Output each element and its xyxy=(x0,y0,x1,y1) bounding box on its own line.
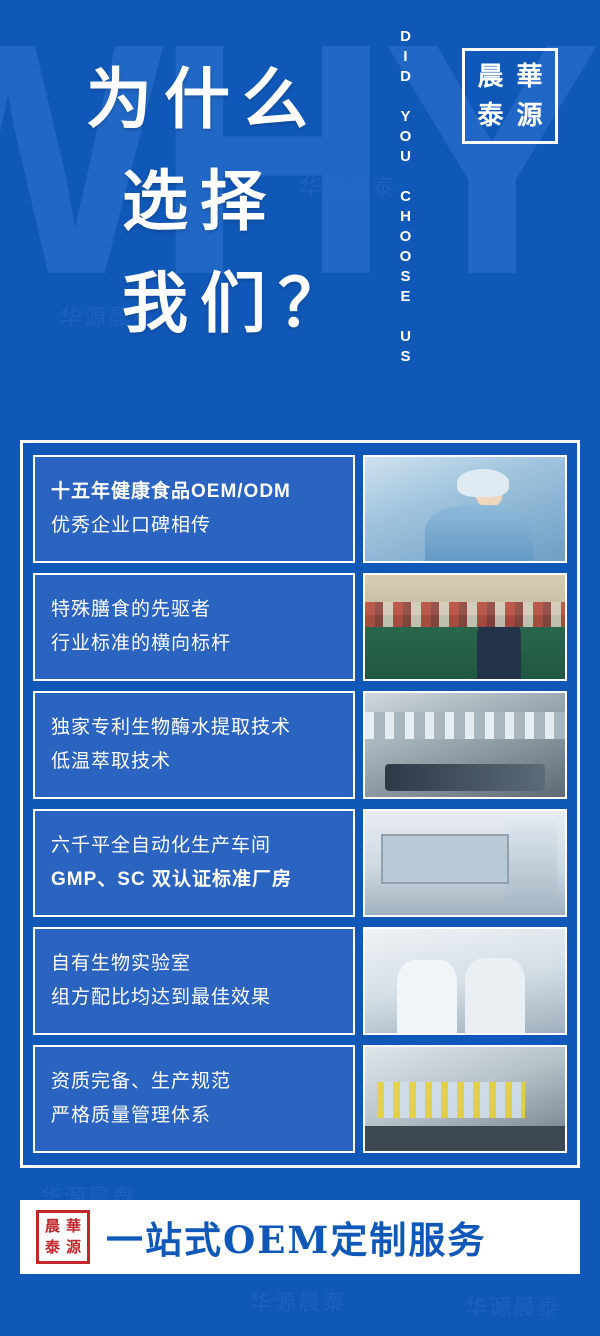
feature-line: 特殊膳食的先驱者 xyxy=(51,597,337,623)
page-title-line-3: 我们？ xyxy=(122,252,356,354)
feature-line: 十五年健康食品OEM/ODM xyxy=(51,479,337,505)
seal-char-2: 源 xyxy=(66,1240,81,1255)
feature-text-box: 资质完备、生产规范 严格质量管理体系 xyxy=(33,1045,355,1153)
blister-packing-photo xyxy=(363,1045,567,1153)
feature-line: 行业标准的横向标杆 xyxy=(51,631,337,657)
seal-char-3: 泰 xyxy=(477,103,503,129)
feature-line: 资质完备、生产规范 xyxy=(51,1069,337,1095)
vertical-english-caption: DID YOU CHOOSE US xyxy=(396,28,422,398)
feature-line: GMP、SC 双认证标准厂房 xyxy=(51,867,337,893)
feature-line: 严格质量管理体系 xyxy=(51,1103,337,1129)
brand-logo-seal: 晨 華 泰 源 xyxy=(462,48,558,144)
feature-text-box: 特殊膳食的先驱者 行业标准的横向标杆 xyxy=(33,573,355,681)
seal-char-1: 晨 xyxy=(477,64,503,90)
clean-workshop-photo xyxy=(363,809,567,917)
footer-banner: 晨 華 泰 源 一站式OEM定制服务 xyxy=(20,1200,580,1274)
feature-line: 低温萃取技术 xyxy=(51,749,337,775)
feature-row: 独家专利生物酶水提取技术 低温萃取技术 xyxy=(33,691,567,799)
page-title-line-1: 为什么 xyxy=(86,48,356,150)
feature-text-box: 自有生物实验室 组方配比均达到最佳效果 xyxy=(33,927,355,1035)
feature-row: 特殊膳食的先驱者 行业标准的横向标杆 xyxy=(33,573,567,681)
seal-char-3: 泰 xyxy=(45,1240,60,1255)
feature-line: 优秀企业口碑相传 xyxy=(51,513,337,539)
feature-row: 六千平全自动化生产车间 GMP、SC 双认证标准厂房 xyxy=(33,809,567,917)
feature-row: 自有生物实验室 组方配比均达到最佳效果 xyxy=(33,927,567,1035)
feature-row: 十五年健康食品OEM/ODM 优秀企业口碑相传 xyxy=(33,455,567,563)
filling-line-photo xyxy=(363,691,567,799)
features-panel: 十五年健康食品OEM/ODM 优秀企业口碑相传 特殊膳食的先驱者 行业标准的横向… xyxy=(20,440,580,1168)
seal-char-2: 源 xyxy=(516,103,542,129)
page-title-line-2: 选择 xyxy=(122,150,356,252)
feature-line: 组方配比均达到最佳效果 xyxy=(51,985,337,1011)
feature-line: 自有生物实验室 xyxy=(51,951,337,977)
footer-slogan: 一站式OEM定制服务 xyxy=(106,1210,486,1264)
seal-char-0: 華 xyxy=(66,1219,81,1234)
laboratory-staff-photo xyxy=(363,927,567,1035)
page-title: 为什么 选择 我们？ xyxy=(86,48,356,354)
feature-text-box: 六千平全自动化生产车间 GMP、SC 双认证标准厂房 xyxy=(33,809,355,917)
footer-brand-seal: 晨 華 泰 源 xyxy=(36,1210,90,1264)
feature-line: 独家专利生物酶水提取技术 xyxy=(51,715,337,741)
brand-watermark: 华源晨泰 xyxy=(250,1285,346,1317)
feature-text-box: 十五年健康食品OEM/ODM 优秀企业口碑相传 xyxy=(33,455,355,563)
feature-text-box: 独家专利生物酶水提取技术 低温萃取技术 xyxy=(33,691,355,799)
conference-photo xyxy=(363,573,567,681)
brand-watermark: 华源晨泰 xyxy=(465,1290,561,1322)
lab-technician-photo xyxy=(363,455,567,563)
seal-char-1: 晨 xyxy=(45,1219,60,1234)
poster-header: 为什么 选择 我们？ DID YOU CHOOSE US 晨 華 泰 源 xyxy=(0,0,600,430)
seal-char-0: 華 xyxy=(516,64,542,90)
feature-row: 资质完备、生产规范 严格质量管理体系 xyxy=(33,1045,567,1153)
feature-line: 六千平全自动化生产车间 xyxy=(51,833,337,859)
